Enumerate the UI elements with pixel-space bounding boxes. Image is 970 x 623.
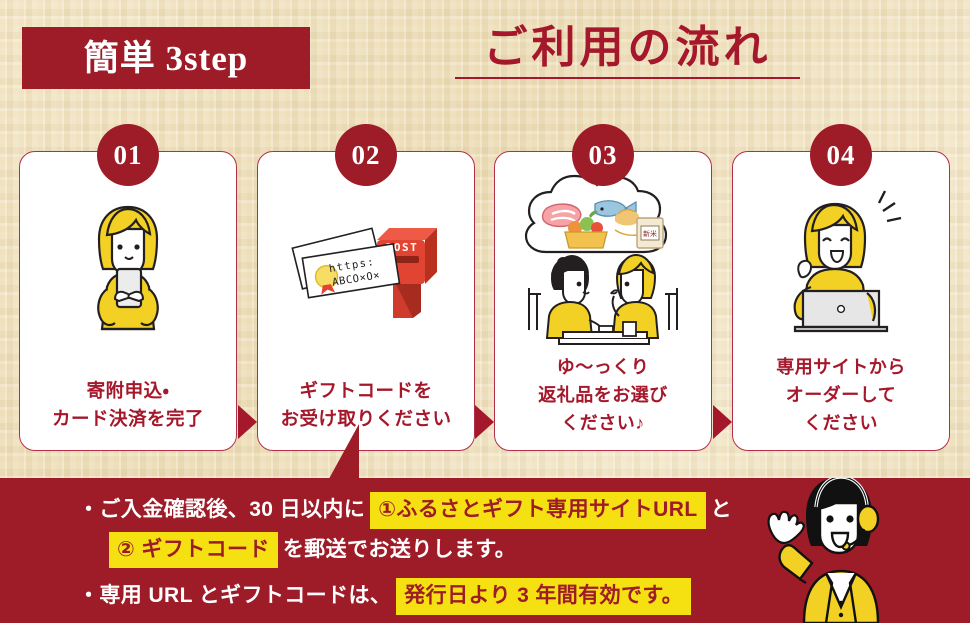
step-caption-1: 寄附申込・ カード決済を完了 bbox=[20, 377, 236, 434]
footer-line-2: ② ギフトコード を郵送でお送りします。 bbox=[78, 532, 778, 569]
couple-at-table-thinking-icon: 新米 bbox=[503, 170, 703, 345]
steps-container: 01 bbox=[0, 125, 970, 455]
arrow-step3-to-step4-icon bbox=[713, 405, 732, 439]
step-caption-2-line-2: お受け取りください bbox=[258, 405, 474, 434]
footer-line-1-suffix: と bbox=[711, 494, 732, 527]
step-number-badge-2: 02 bbox=[335, 124, 397, 186]
footer-notice-banner: ・ ご入金確認後、30 日以内に ①ふるさとギフト専用サイトURL と ② ギフ… bbox=[0, 478, 970, 623]
step-number-badge-4: 04 bbox=[810, 124, 872, 186]
step-illustration-3: 新米 bbox=[495, 170, 711, 345]
step-number-badge-1: 01 bbox=[97, 124, 159, 186]
postbox-with-letters-icon: POST https: ABCO×O× bbox=[281, 200, 451, 330]
footer-highlight-site-url: ①ふるさとギフト専用サイトURL bbox=[370, 492, 705, 529]
step-illustration-4 bbox=[733, 178, 949, 343]
step-card-4[interactable]: 04 bbox=[732, 151, 950, 451]
footer-line-1-bullet: ・ bbox=[78, 494, 99, 527]
woman-with-laptop-icon bbox=[761, 181, 921, 341]
step-card-3[interactable]: 03 bbox=[494, 151, 712, 451]
step-caption-4-line-1: 専用サイトから bbox=[733, 354, 949, 382]
step-caption-2: ギフトコードを お受け取りください bbox=[258, 377, 474, 434]
title-underline bbox=[455, 77, 800, 79]
step-number-badge-3: 03 bbox=[572, 124, 634, 186]
support-operator-waving-icon bbox=[746, 478, 946, 623]
page-title: ご利用の流れ bbox=[455, 20, 800, 75]
step-card-2[interactable]: 02 POST bbox=[257, 151, 475, 451]
footer-line-2-text: を郵送でお送りします。 bbox=[283, 534, 516, 567]
footer-highlight-gift-code: ② ギフトコード bbox=[109, 532, 278, 569]
step-illustration-1 bbox=[20, 190, 236, 340]
step-caption-3-line-1: ゆ〜っくり bbox=[495, 354, 711, 382]
footer-line-1: ・ ご入金確認後、30 日以内に ①ふるさとギフト専用サイトURL と bbox=[78, 492, 778, 529]
step-caption-3-line-2: 返礼品をお選び bbox=[495, 382, 711, 410]
step-caption-3: ゆ〜っくり 返礼品をお選び ください♪ bbox=[495, 354, 711, 438]
footer-line-3: ・ 専用 URL とギフトコードは、 発行日より 3 年間有効です。 bbox=[78, 578, 778, 615]
arrow-step2-to-footer-icon bbox=[325, 424, 361, 486]
step-illustration-2: POST https: ABCO×O× bbox=[258, 190, 474, 340]
page-title-wrap: ご利用の流れ bbox=[455, 20, 800, 79]
woman-with-smartphone-icon bbox=[63, 195, 193, 335]
step-caption-4: 専用サイトから オーダーして ください bbox=[733, 354, 949, 438]
step-count-banner-label: 簡単 3step bbox=[84, 41, 249, 76]
arrow-step2-to-step3-icon bbox=[475, 405, 494, 439]
step-caption-1-line-2: カード決済を完了 bbox=[20, 405, 236, 434]
step-caption-3-line-3: ください♪ bbox=[495, 410, 711, 438]
infographic-page: 簡単 3step ご利用の流れ 01 bbox=[0, 0, 970, 623]
footer-line-3-bullet: ・ bbox=[78, 580, 99, 613]
step-caption-2-line-1: ギフトコードを bbox=[258, 377, 474, 406]
footer-line-1-text: ご入金確認後、30 日以内に bbox=[99, 494, 365, 527]
step-count-banner: 簡単 3step bbox=[22, 27, 310, 89]
step-caption-1-line-1: 寄附申込・ bbox=[20, 377, 236, 406]
step-caption-4-line-2: オーダーして bbox=[733, 382, 949, 410]
step-caption-4-line-3: ください bbox=[733, 410, 949, 438]
step-card-1[interactable]: 01 bbox=[19, 151, 237, 451]
footer-highlight-validity: 発行日より 3 年間有効です。 bbox=[396, 578, 691, 615]
arrow-step1-to-step2-icon bbox=[238, 405, 257, 439]
footer-line-3-text: 専用 URL とギフトコードは、 bbox=[99, 580, 391, 613]
rice-bag-label: 新米 bbox=[643, 229, 657, 238]
footer-notice-text: ・ ご入金確認後、30 日以内に ①ふるさとギフト専用サイトURL と ② ギフ… bbox=[78, 492, 778, 618]
